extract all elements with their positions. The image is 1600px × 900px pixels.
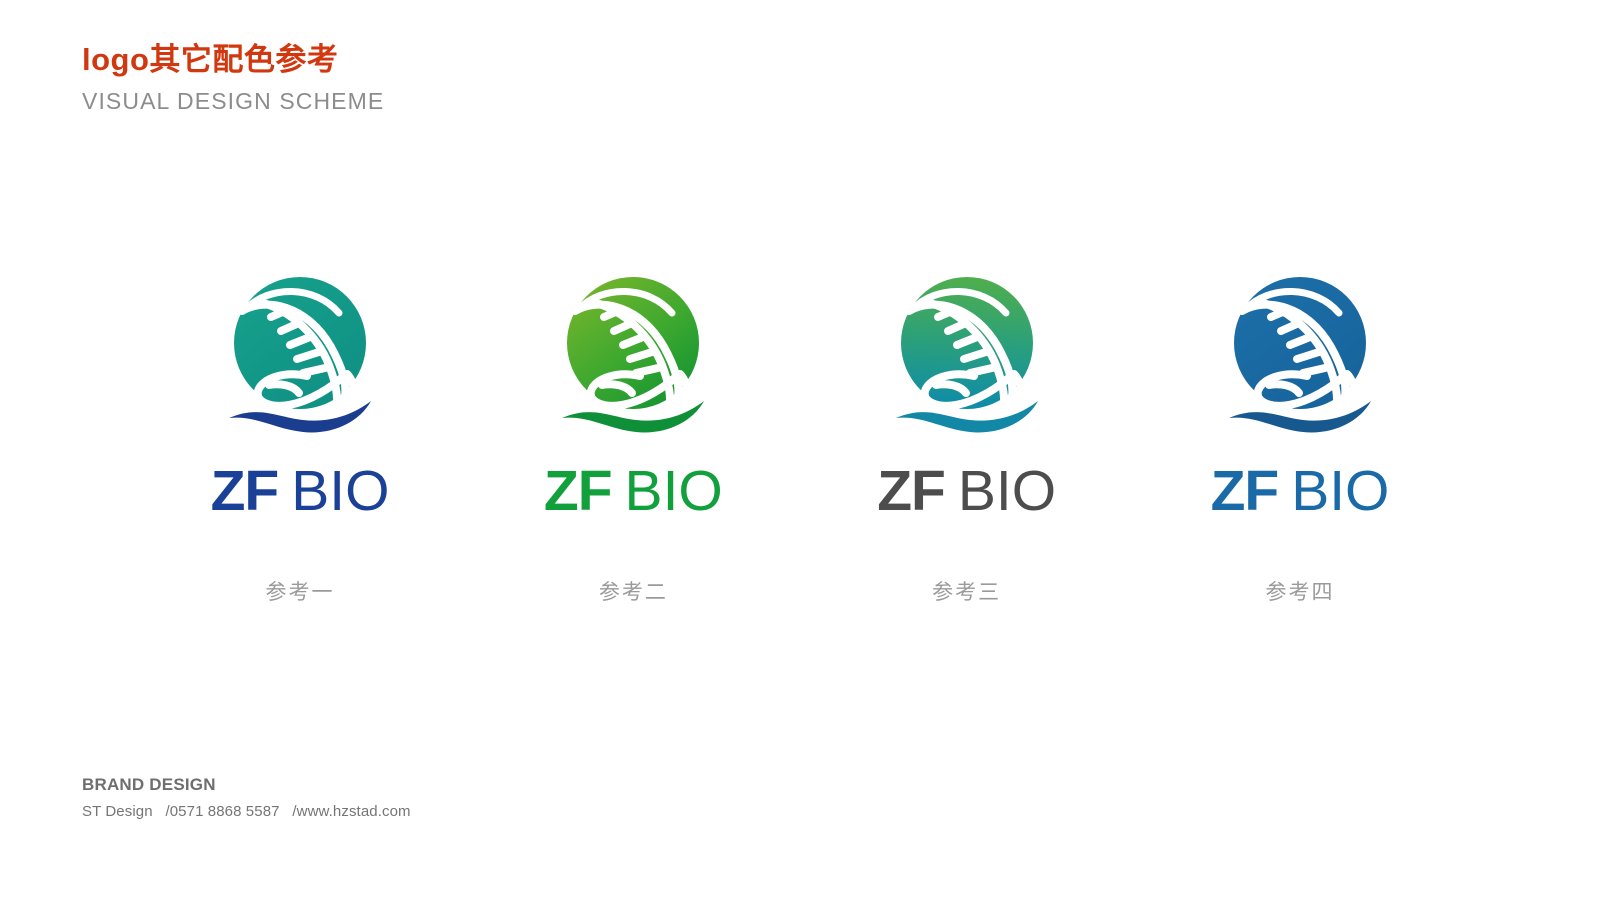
slide-canvas: logo其它配色参考 VISUAL DESIGN SCHEME [0,0,1600,900]
zf-bio-dna-sail-icon [1211,275,1389,440]
footer-phone: /0571 8868 5587 [165,803,279,820]
wordmark-bio: BIO [291,458,389,524]
wordmark-zf: ZF [1211,458,1279,524]
wordmark-zf: ZF [877,458,945,524]
logo-variant-3[interactable]: ZF BIO 参考三 [817,275,1117,606]
footer-studio-name: ST Design [82,803,153,820]
footer-contact-line: ST Design /0571 8868 5587 /www.hzstad.co… [82,803,411,820]
footer-brand-label: BRAND DESIGN [82,775,411,795]
wordmark-zf: ZF [544,458,612,524]
wordmark-zf: ZF [211,458,279,524]
wordmark: ZF BIO [877,458,1056,524]
zf-bio-dna-sail-icon [211,275,389,440]
zf-bio-dna-sail-icon [544,275,722,440]
logo-variant-2[interactable]: ZF BIO 参考二 [483,275,783,606]
variant-caption: 参考三 [932,576,1001,606]
footer-separator-2 [280,803,293,820]
logo-variant-1[interactable]: ZF BIO 参考一 [150,275,450,606]
footer-website: /www.hzstad.com [292,803,410,820]
footer-separator-1 [153,803,166,820]
logo-variant-grid: ZF BIO 参考一 [150,275,1450,606]
page-subtitle: VISUAL DESIGN SCHEME [82,88,384,115]
variant-caption: 参考四 [1265,576,1334,606]
wordmark-bio: BIO [625,458,723,524]
variant-caption: 参考一 [266,576,335,606]
page-footer: BRAND DESIGN ST Design /0571 8868 5587 /… [82,775,411,820]
wordmark: ZF BIO [211,458,390,524]
zf-bio-dna-sail-icon [878,275,1056,440]
wordmark-bio: BIO [958,458,1056,524]
page-header: logo其它配色参考 VISUAL DESIGN SCHEME [82,42,384,115]
wordmark: ZF BIO [1211,458,1390,524]
page-title: logo其它配色参考 [82,42,384,79]
wordmark-bio: BIO [1291,458,1389,524]
variant-caption: 参考二 [599,576,668,606]
logo-variant-4[interactable]: ZF BIO 参考四 [1150,275,1450,606]
wordmark: ZF BIO [544,458,723,524]
